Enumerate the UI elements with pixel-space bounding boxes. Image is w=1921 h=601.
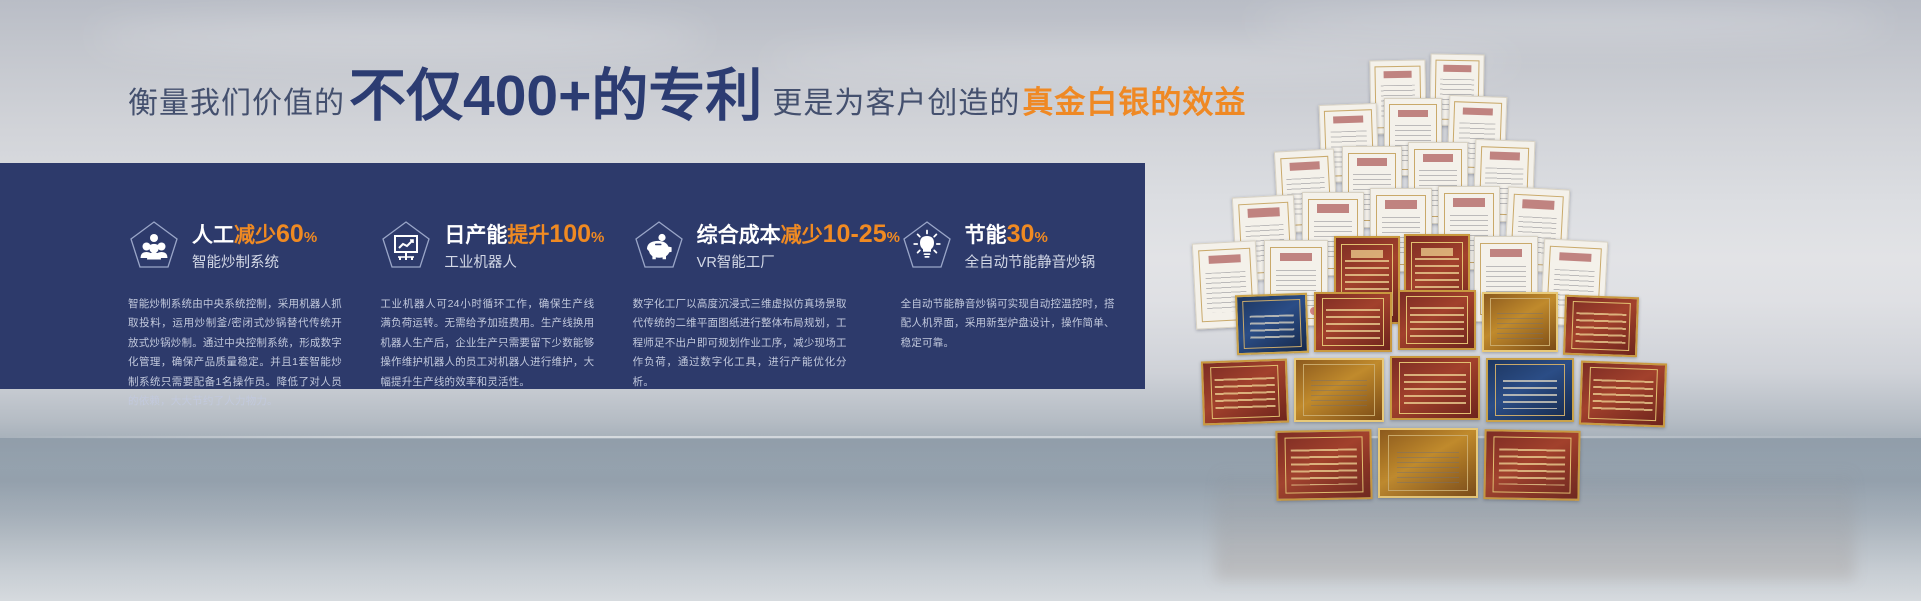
award-plaque	[1294, 358, 1384, 422]
headline: 衡量我们价值的 不仅400+的专利 更是为客户创造的 真金白银的效益	[128, 66, 1246, 136]
feature-subtitle: 工业机器人	[444, 256, 604, 271]
feature-title-word: 减少	[781, 224, 823, 247]
feature-title-unit: %	[591, 229, 604, 246]
headline-accent: 真金白银的效益	[1022, 87, 1246, 118]
feature-title-prefix: 节能	[965, 224, 1007, 247]
feature-title-word: 减少	[234, 224, 276, 247]
lightbulb-icon	[901, 219, 953, 271]
feature-title: 日产能提升100%	[444, 224, 604, 247]
feature-header: 人工减少60% 智能炒制系统	[128, 213, 372, 277]
feature-header: 综合成本减少10-25% VR智能工厂	[633, 213, 893, 277]
feature-title-number: 100	[549, 220, 591, 248]
feature-body: 工业机器人可24小时循环工作，确保生产线满负荷运转。无需给予加班费用。生产线换用…	[380, 295, 594, 392]
feature-title: 综合成本减少10-25%	[697, 224, 900, 247]
feature-title-number: 30	[1007, 220, 1035, 248]
award-plaque	[1314, 292, 1392, 352]
feature-body: 数字化工厂以高度沉浸式三维虚拟仿真场景取代传统的二维平面图纸进行整体布局规划，工…	[633, 295, 847, 392]
award-plaque	[1201, 359, 1289, 426]
feature-card-2: 日产能提升100% 工业机器人 工业机器人可24小时循环工作，确保生产线满负荷运…	[380, 163, 624, 389]
award-plaque	[1275, 429, 1372, 501]
piggy-bank-icon	[633, 219, 685, 271]
feature-card-4: 节能30% 全自动节能静音炒锅 全自动节能静音炒锅可实现自动控温控时，搭配人机界…	[901, 163, 1145, 389]
chart-board-icon	[380, 219, 432, 271]
feature-title-number: 60	[276, 220, 304, 248]
feature-title-word: 提升	[507, 224, 549, 247]
feature-title-prefix: 人工	[192, 224, 234, 247]
award-plaque	[1486, 358, 1574, 422]
feature-title: 节能30%	[965, 224, 1048, 247]
feature-title-unit: %	[887, 229, 900, 246]
award-plaque	[1390, 356, 1480, 420]
feature-header: 节能30% 全自动节能静音炒锅	[901, 213, 1145, 277]
features-list: 人工减少60% 智能炒制系统 智能炒制系统由中央系统控制，采用机器人抓取投料，运…	[0, 163, 1145, 389]
feature-text: 日产能提升100% 工业机器人	[444, 220, 604, 270]
feature-title-unit: %	[1034, 229, 1047, 246]
feature-title-unit: %	[304, 229, 317, 246]
award-plaque	[1483, 429, 1580, 501]
banner-stage: 衡量我们价值的 不仅400+的专利 更是为客户创造的 真金白银的效益	[0, 0, 1921, 601]
award-plaque	[1482, 292, 1558, 352]
feature-header: 日产能提升100% 工业机器人	[380, 213, 624, 277]
headline-prefix: 衡量我们价值的	[128, 89, 345, 119]
headline-middle: 更是为客户创造的	[772, 89, 1020, 119]
feature-text: 节能30% 全自动节能静音炒锅	[965, 220, 1096, 270]
feature-card-3: 综合成本减少10-25% VR智能工厂 数字化工厂以高度沉浸式三维虚拟仿真场景取…	[633, 163, 893, 389]
feature-title-prefix: 日产能	[444, 224, 507, 247]
award-plaque	[1378, 428, 1478, 498]
feature-subtitle: 智能炒制系统	[192, 256, 317, 271]
feature-title-number: 10-25	[823, 220, 887, 248]
award-plaque	[1563, 295, 1639, 358]
certificate-wall	[1180, 40, 1880, 510]
feature-text: 人工减少60% 智能炒制系统	[192, 220, 317, 270]
feature-card-1: 人工减少60% 智能炒制系统 智能炒制系统由中央系统控制，采用机器人抓取投料，运…	[128, 163, 372, 389]
feature-title: 人工减少60%	[192, 224, 317, 247]
feature-subtitle: 全自动节能静音炒锅	[965, 256, 1096, 271]
headline-highlight: 不仅400+的专利	[349, 68, 762, 125]
award-plaque	[1579, 361, 1667, 428]
people-group-icon	[128, 219, 180, 271]
feature-subtitle: VR智能工厂	[697, 256, 900, 271]
feature-body: 智能炒制系统由中央系统控制，采用机器人抓取投料，运用炒制釜/密闭式炒锅替代传统开…	[128, 295, 342, 412]
award-plaque	[1235, 293, 1309, 355]
feature-body: 全自动节能静音炒锅可实现自动控温控时，搭配人机界面，采用新型炉盘设计，操作简单、…	[901, 295, 1115, 353]
award-plaque	[1398, 290, 1476, 350]
feature-text: 综合成本减少10-25% VR智能工厂	[697, 220, 900, 270]
feature-title-prefix: 综合成本	[697, 224, 781, 247]
